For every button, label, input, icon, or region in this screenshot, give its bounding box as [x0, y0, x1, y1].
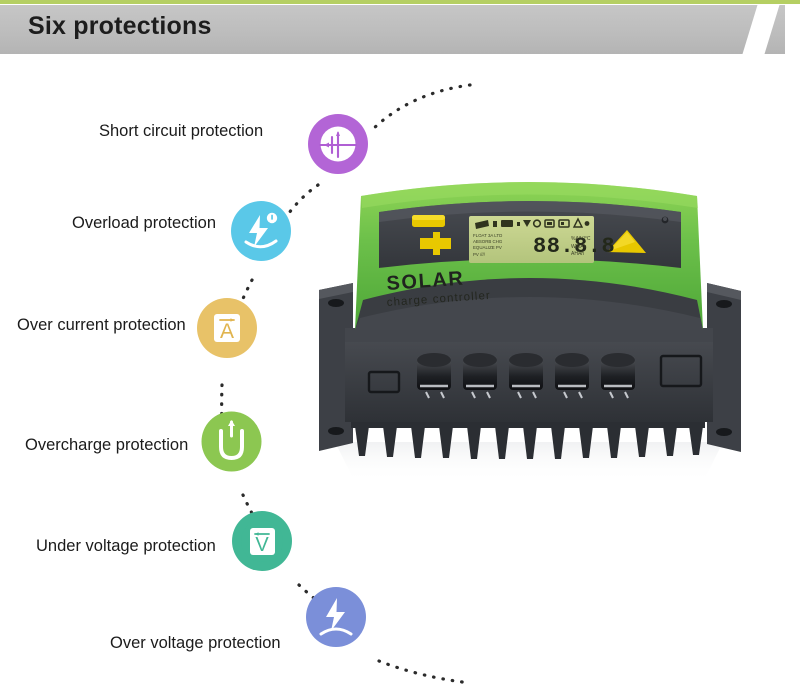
label-over-current-protection: Over current protection	[17, 316, 186, 335]
label-overcharge-protection: Overcharge protection	[25, 436, 188, 455]
page-header: Six protections	[0, 0, 800, 58]
under-voltage-volt-icon[interactable]: V	[231, 510, 293, 572]
label-under-voltage-protection: Under voltage protection	[36, 537, 216, 556]
lcd-display: FLOAT 3A LTD ABSORB CHG EQUALIZE PV PV /…	[469, 216, 615, 263]
svg-text:A: A	[220, 320, 234, 343]
page-title: Six protections	[28, 12, 212, 41]
over-voltage-bolt-icon[interactable]	[305, 586, 367, 648]
overcharge-battery-icon[interactable]	[200, 410, 263, 473]
label-overload-protection: Overload protection	[72, 214, 216, 233]
svg-text:AHAh: AHAh	[571, 251, 584, 257]
product-image-solar-charge-controller: FLOAT 3A LTD ABSORB CHG EQUALIZE PV PV /…	[283, 160, 773, 490]
svg-text:EQUALIZE PV: EQUALIZE PV	[473, 245, 502, 250]
svg-text:ABSORB CHG: ABSORB CHG	[473, 239, 503, 244]
over-current-ampere-icon[interactable]: A	[196, 297, 258, 359]
label-short-circuit-protection: Short circuit protection	[99, 122, 263, 141]
label-over-voltage-protection: Over voltage protection	[110, 634, 281, 653]
minus-button	[412, 215, 445, 227]
header-accent-line	[0, 0, 800, 4]
svg-text:FLOAT 3A LTD: FLOAT 3A LTD	[473, 233, 502, 238]
svg-text:WWAh: WWAh	[571, 244, 587, 250]
svg-text:V: V	[255, 534, 269, 556]
svg-text:%A/V/°C: %A/V/°C	[571, 236, 591, 242]
svg-text:PV ////: PV ////	[473, 252, 486, 257]
